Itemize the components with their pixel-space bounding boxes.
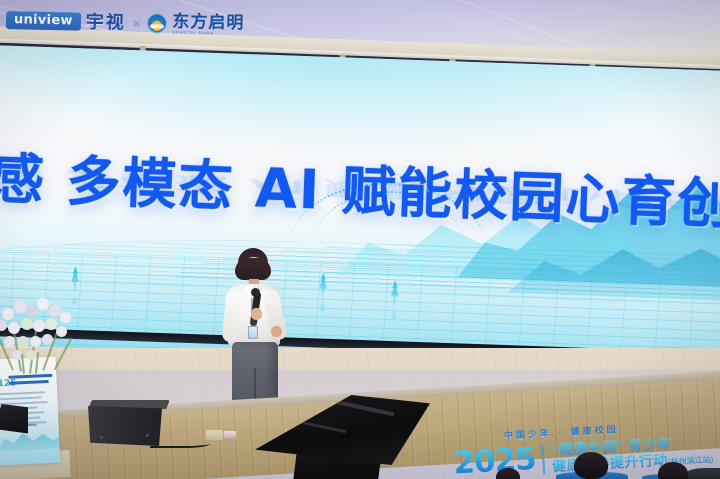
- audience-head: [574, 452, 608, 479]
- poster-title-bar: [9, 380, 49, 385]
- microphone-head-icon: [251, 288, 260, 297]
- confidence-monitor: [255, 395, 435, 479]
- floor-object-card: [224, 431, 236, 439]
- speaker-badge: [248, 326, 258, 339]
- audience-head: [496, 468, 520, 479]
- speaker-hand-left: [251, 308, 262, 320]
- uniview-logo: uniview: [6, 11, 81, 31]
- watermark-year: 2025: [453, 444, 537, 479]
- monitor-vent: [333, 400, 394, 417]
- poster-title-bar: [8, 374, 52, 379]
- speaker-cable: [150, 437, 210, 448]
- uniview-logo-cn: 宇视: [86, 13, 126, 32]
- audience-shoulder: [686, 468, 720, 479]
- speaker-hair-front: [235, 258, 271, 280]
- watermark-divider: [542, 444, 546, 474]
- sun-circle-icon: [147, 13, 167, 33]
- monitor-vent: [295, 420, 346, 434]
- monitor-panel: [255, 395, 430, 465]
- audience-head: [658, 462, 688, 479]
- photo-scene: uniview 宇视 × 东方启明 ORIENTAL DAWN 无感 多模态 A…: [0, 0, 720, 479]
- floor-object-tape: [206, 430, 223, 440]
- flower-arrangement: [0, 296, 84, 374]
- partner-logo-cn: 东方启明 ORIENTAL DAWN: [172, 13, 244, 37]
- logo-separator-icon: ×: [131, 15, 143, 30]
